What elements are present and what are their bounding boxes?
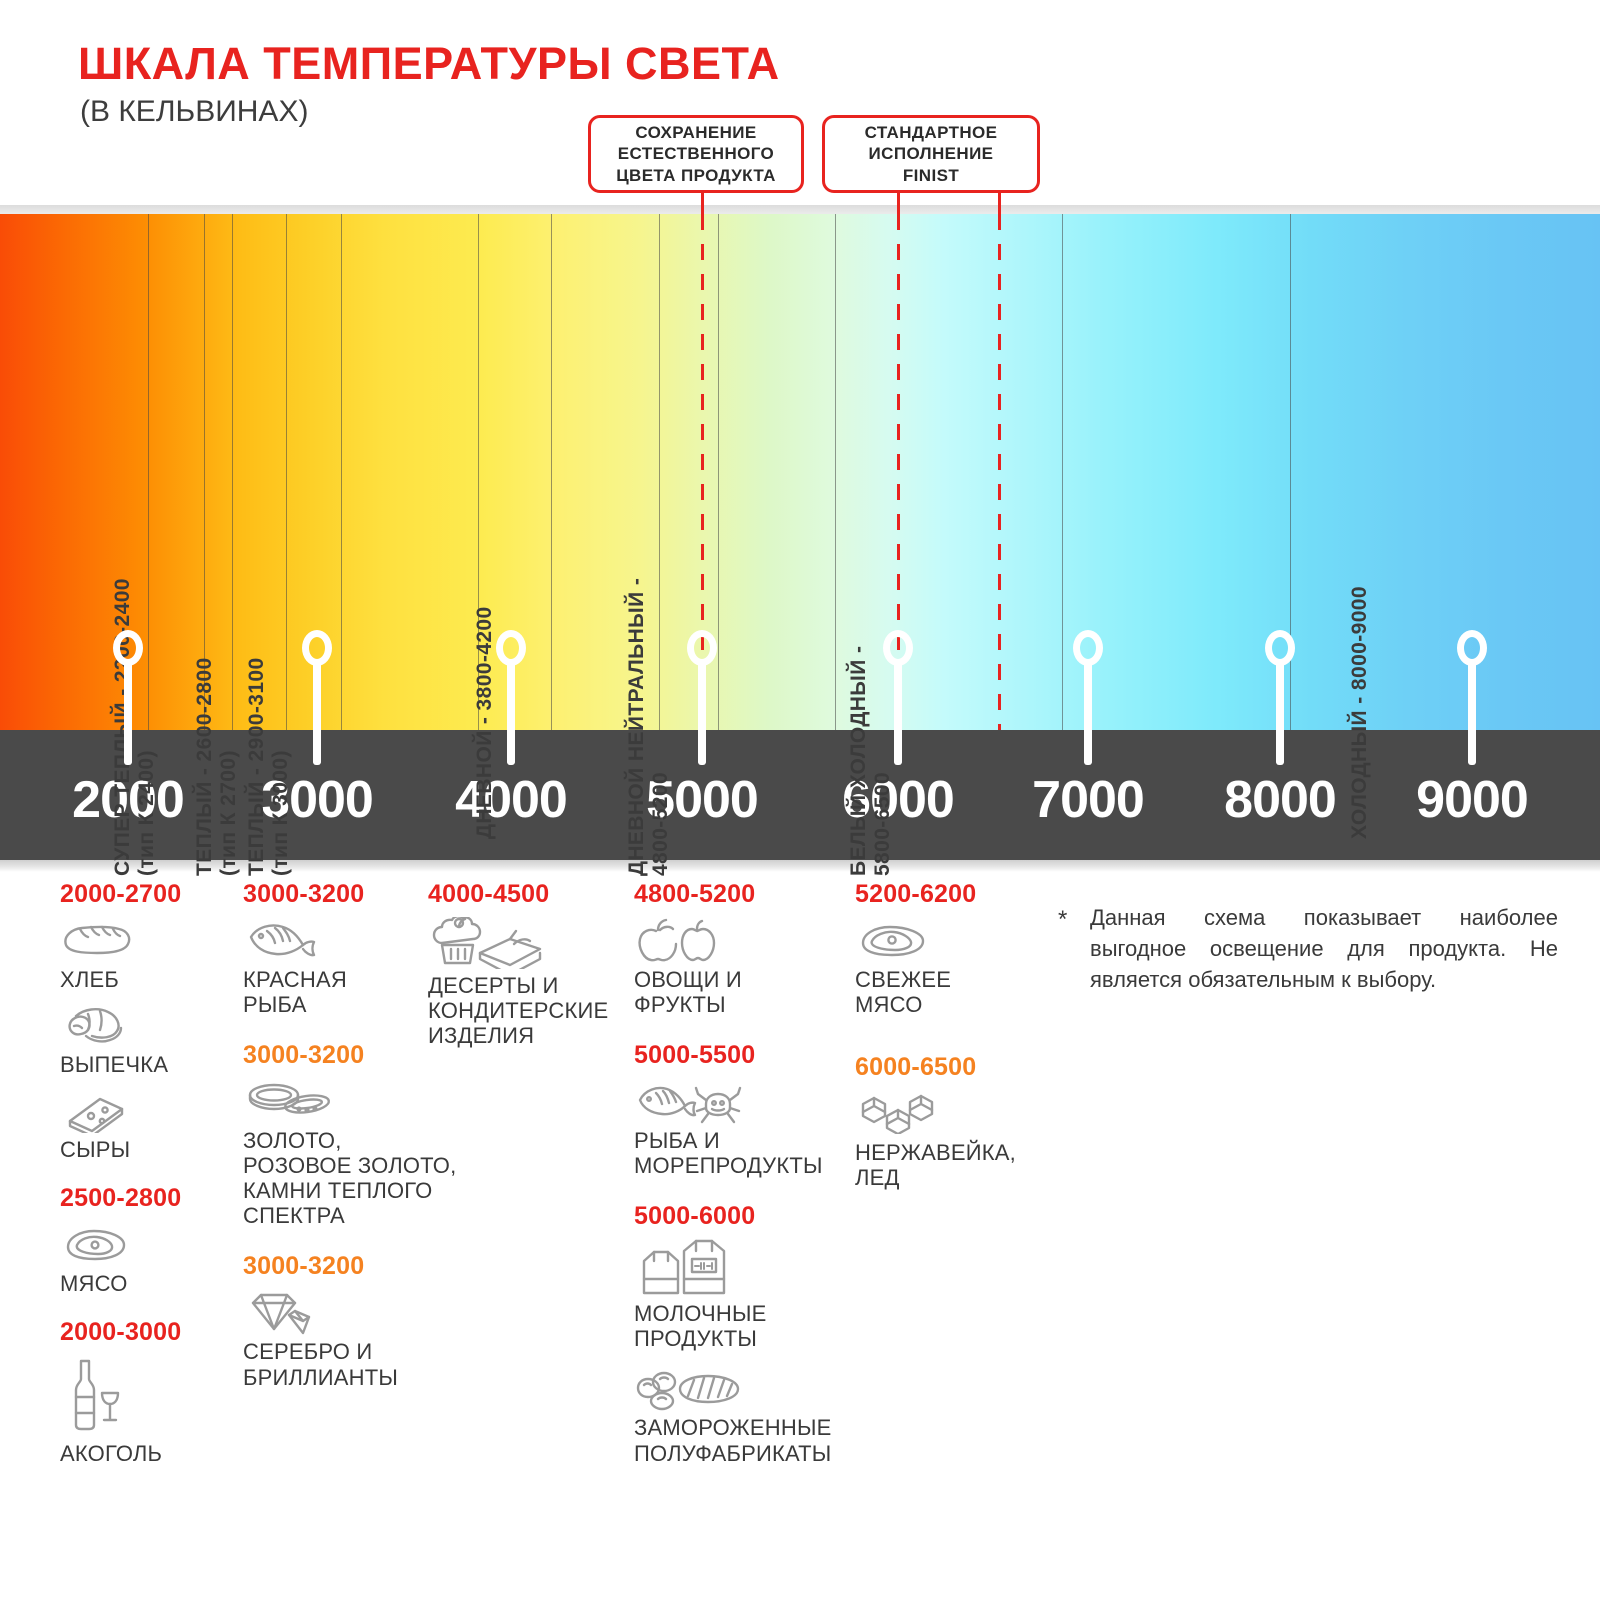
legend-group: 4000-4500 ДЕСЕРТЫ И КОНДИТЕРСКИЕИЗДЕЛИЯ [428, 880, 628, 1048]
list-item[interactable]: ХЛЕБ [60, 917, 235, 992]
band-label-super-warm: СУПЕР ТЕПЛЫЙ - 2200-2400(тип К 2400) [111, 578, 158, 876]
legend-column-3: 4000-4500 ДЕСЕРТЫ И КОНДИТЕРСКИЕИЗДЕЛИЯ [428, 880, 628, 1066]
alcohol-icon [60, 1355, 235, 1439]
segment-divider [204, 214, 205, 730]
pin-stem [1084, 660, 1092, 765]
seafood-icon [634, 1078, 864, 1126]
red-reference-line-finist-right [998, 214, 1001, 730]
callout-natural-color: СОХРАНЕНИЕЕСТЕСТВЕННОГОЦВЕТА ПРОДУКТА [588, 115, 804, 193]
list-item[interactable]: СЕРЕБРО ИБРИЛЛИАНТЫ [243, 1289, 493, 1389]
list-item-label: ДЕСЕРТЫ И КОНДИТЕРСКИЕИЗДЕЛИЯ [428, 973, 628, 1048]
pin-stem [507, 660, 515, 765]
legend-column-1: 2000-2700 ХЛЕБ [60, 880, 235, 1484]
legend: 2000-2700 ХЛЕБ [0, 880, 1600, 1600]
legend-group: 5000-6000 МОЛОЧНЫЕ ПРОДУКТЫ [634, 1202, 864, 1465]
list-item[interactable]: ВЫПЕЧКА [60, 1002, 235, 1077]
pin-stem [1276, 660, 1284, 765]
legend-column-4: 4800-5200 ОВОЩИ ИФРУКТЫ 5000-5500 [634, 880, 864, 1484]
vegetables-fruits-icon [634, 917, 864, 965]
band-label-warm-2700: ТЕПЛЫЙ - 2600-2800(тип К 2700) [193, 657, 240, 876]
list-item[interactable]: АКОГОЛЬ [60, 1355, 235, 1466]
list-item-label: АКОГОЛЬ [60, 1441, 235, 1466]
list-item-label: СВЕЖЕЕМЯСО [855, 967, 1055, 1017]
segment-divider [286, 214, 287, 730]
legend-range: 6000-6500 [855, 1053, 1055, 1082]
list-item[interactable]: ОВОЩИ ИФРУКТЫ [634, 917, 864, 1017]
legend-range: 4800-5200 [634, 880, 864, 909]
segment-divider [341, 214, 342, 730]
page-subtitle: (В КЕЛЬВИНАХ) [80, 95, 308, 129]
temperature-scale: СУПЕР ТЕПЛЫЙ - 2200-2400(тип К 2400) ТЕП… [0, 205, 1600, 870]
callout-finist-standard-text: СТАНДАРТНОЕИСПОЛНЕНИЕFINIST [865, 122, 998, 186]
bread-icon [60, 917, 235, 965]
legend-group: 2000-2700 ХЛЕБ [60, 880, 235, 1162]
list-item[interactable]: СВЕЖЕЕМЯСО [855, 917, 1055, 1017]
list-item[interactable]: МЯСО [60, 1221, 235, 1296]
band-label-daylight: ДНЕВНОЙ - 3800-4200 [473, 606, 497, 839]
footnote-marker: * [1058, 906, 1067, 934]
legend-group: 5200-6200 СВЕЖЕЕМЯСО [855, 880, 1055, 1017]
segment-divider [718, 214, 719, 730]
footnote-text: Данная схема показывает наиболее выгодно… [1090, 902, 1558, 996]
pin-stem [698, 660, 706, 765]
tick-9000: 9000 [1416, 770, 1528, 830]
legend-range: 2000-2700 [60, 880, 235, 909]
band-label-warm-3000: ТЕПЛЫЙ - 2900-3100(тип К 3000) [245, 657, 292, 876]
milk-icon [634, 1239, 864, 1299]
tick-7000: 7000 [1032, 770, 1144, 830]
legend-range: 4000-4500 [428, 880, 628, 909]
callout-natural-color-text: СОХРАНЕНИЕЕСТЕСТВЕННОГОЦВЕТА ПРОДУКТА [616, 122, 776, 186]
legend-group: 5000-5500 РЫБА ИМОРЕПРОДУКТЫ [634, 1041, 864, 1178]
croissant-icon [60, 1002, 235, 1050]
pin-stem [124, 660, 132, 765]
list-item[interactable]: СЫРЫ [60, 1087, 235, 1162]
pin-stem [313, 660, 321, 765]
steak-icon [60, 1221, 235, 1269]
list-item[interactable]: МОЛОЧНЫЕ ПРОДУКТЫ [634, 1239, 864, 1351]
list-item-label: СЫРЫ [60, 1137, 235, 1162]
list-item-label: СЕРЕБРО ИБРИЛЛИАНТЫ [243, 1339, 493, 1389]
cheese-icon [60, 1087, 235, 1135]
ice-cubes-icon [855, 1090, 1055, 1138]
legend-group: 4800-5200 ОВОЩИ ИФРУКТЫ [634, 880, 864, 1017]
pin-stem [894, 660, 902, 765]
list-item[interactable]: ЗАМОРОЖЕННЫЕПОЛУФАБРИКАТЫ [634, 1365, 864, 1465]
rings-icon [243, 1078, 493, 1126]
list-item[interactable]: ДЕСЕРТЫ И КОНДИТЕРСКИЕИЗДЕЛИЯ [428, 917, 628, 1048]
legend-group: 3000-3200 СЕРЕБРО ИБРИЛЛИАНТЫ [243, 1252, 493, 1389]
dessert-icon [428, 917, 628, 971]
segment-divider [551, 214, 552, 730]
frozen-food-icon [634, 1365, 864, 1413]
legend-range: 3000-3200 [243, 1252, 493, 1281]
tick-8000: 8000 [1224, 770, 1336, 830]
callout-stem-finist-left [897, 193, 900, 215]
pin-stem [1468, 660, 1476, 765]
legend-range: 5200-6200 [855, 880, 1055, 909]
list-item[interactable]: ЗОЛОТО, РОЗОВОЕ ЗОЛОТО,КАМНИ ТЕПЛОГОСПЕК… [243, 1078, 493, 1228]
legend-range: 2000-3000 [60, 1318, 235, 1347]
legend-range: 5000-5500 [634, 1041, 864, 1070]
legend-group: 2000-3000 АКОГОЛЬ [60, 1318, 235, 1466]
legend-group: 2500-2800 МЯСО [60, 1184, 235, 1296]
footnote: * Данная схема показывает наиболее выгод… [1058, 902, 1558, 996]
callout-stem-natural [701, 193, 704, 215]
tick-4000: 4000 [455, 770, 567, 830]
list-item-label: ХЛЕБ [60, 967, 235, 992]
scale-bottom-shadow [0, 860, 1600, 872]
segment-divider [1062, 214, 1063, 730]
band-label-cold: ХОЛОДНЫЙ - 8000-9000 [1348, 586, 1372, 839]
list-item-label: МЯСО [60, 1271, 235, 1296]
legend-group: 6000-6500 НЕРЖАВЕЙКА,ЛЕД [855, 1053, 1055, 1190]
list-item-label: ЗОЛОТО, РОЗОВОЕ ЗОЛОТО,КАМНИ ТЕПЛОГОСПЕК… [243, 1128, 493, 1228]
segment-divider [232, 214, 233, 730]
legend-column-5: 5200-6200 СВЕЖЕЕМЯСО 6000-6500 [855, 880, 1055, 1208]
legend-range: 2500-2800 [60, 1184, 235, 1213]
fresh-meat-icon [855, 917, 1055, 965]
band-label-white-cold: БЕЛЫЙ ХОЛОДНЫЙ -5800-6500 [847, 646, 894, 876]
list-item[interactable]: НЕРЖАВЕЙКА,ЛЕД [855, 1090, 1055, 1190]
list-item[interactable]: РЫБА ИМОРЕПРОДУКТЫ [634, 1078, 864, 1178]
list-item-label: НЕРЖАВЕЙКА,ЛЕД [855, 1140, 1055, 1190]
page-title: ШКАЛА ТЕМПЕРАТУРЫ СВЕТА [78, 38, 780, 90]
legend-group: 3000-3200 ЗОЛОТО, РОЗОВОЕ ЗОЛОТО,КАМНИ Т… [243, 1041, 493, 1228]
diamond-icon [243, 1289, 493, 1337]
callout-finist-standard: СТАНДАРТНОЕИСПОЛНЕНИЕFINIST [822, 115, 1040, 193]
callout-stem-finist-right [998, 193, 1001, 215]
list-item-label: МОЛОЧНЫЕ ПРОДУКТЫ [634, 1301, 864, 1351]
list-item-label: ОВОЩИ ИФРУКТЫ [634, 967, 864, 1017]
list-item-label: ЗАМОРОЖЕННЫЕПОЛУФАБРИКАТЫ [634, 1415, 864, 1465]
list-item-label: РЫБА ИМОРЕПРОДУКТЫ [634, 1128, 864, 1178]
segment-divider [835, 214, 836, 730]
band-label-daylight-neutral: ДНЕВНОЙ НЕЙТРАЛЬНЫЙ -4800-5200 [625, 578, 672, 876]
legend-range: 5000-6000 [634, 1202, 864, 1231]
list-item-label: ВЫПЕЧКА [60, 1052, 235, 1077]
